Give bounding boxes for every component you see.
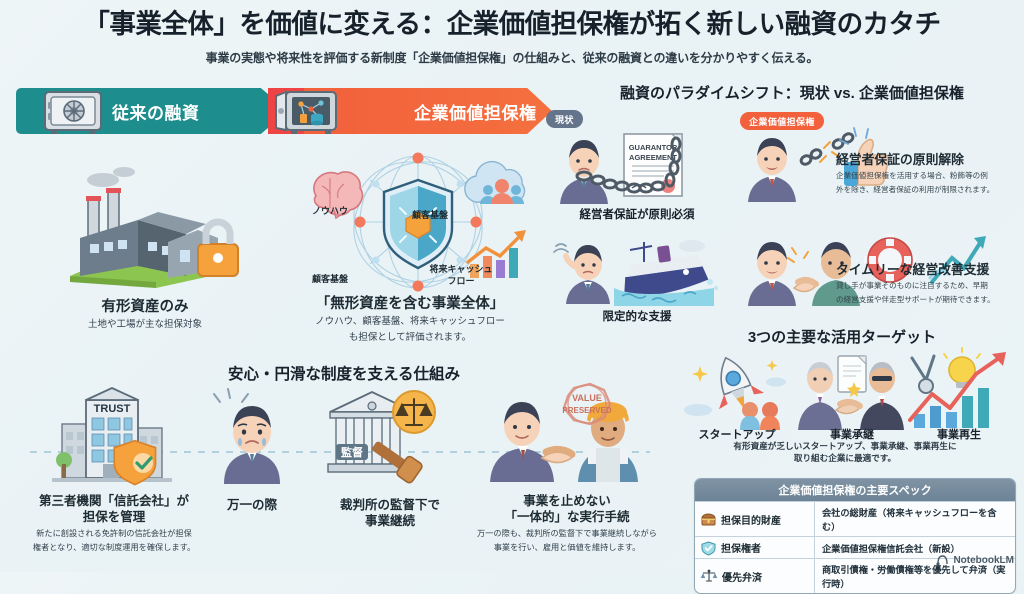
shield-cube-icon (384, 180, 452, 268)
node-label-customer-base-top: 顧客基盤 (400, 208, 460, 221)
chained-guarantor-icon: GUARANTOR AGREEMENT (552, 128, 722, 206)
mech-2-title-line1: 万一の際 (186, 498, 318, 514)
trust-badge-text: TRUST (94, 403, 131, 415)
targets-subtitle-line1: 有形資産が乏しいスタートアップ、事業承継、事業再生に (672, 440, 1018, 452)
handshake-workers-icon: VALUE PRESERVED (484, 382, 646, 486)
new-benefit-1-sub-line2: 外を除き、経営者保証の利用が制限されます。 (836, 185, 1024, 196)
node-label-know-how: ノウハウ (302, 204, 358, 217)
new-benefit-card-2: タイムリーな経営改善支援 貸し手が事業そのものに注目するため、早期 の経営支援や… (836, 262, 1024, 305)
sinking-ship-icon (552, 234, 732, 306)
new-benefit-1-title: 経営者保証の原則解除 (836, 152, 1024, 168)
new-benefit-card-1: 経営者保証の原則解除 企業価値担保権を活用する場合、粉飾等の例 外を除き、経営者… (836, 152, 1024, 195)
intangible-subtitle-line1: ノウハウ、顧客基盤、将来キャッシュフロー (272, 316, 548, 329)
treasure-chest-icon (701, 513, 716, 526)
mech-1-sub-line1: 新たに創設される免許制の信託会社が担保 (6, 528, 222, 539)
mech-4-title-line2: 「一体的」な実行手続 (456, 510, 678, 526)
intangible-title: 「無形資産を含む事業全体」 (272, 295, 548, 313)
mech-4-sub-line2: 事業を行い、雇用と価値を維持します。 (456, 542, 678, 553)
mechanism-col-4: 事業を止めない 「一体的」な実行手続 万一の際も、裁判所の監督下で事業継続しなが… (456, 494, 678, 553)
new-benefit-2-sub-line1: 貸し手が事業そのものに注目するため、早期 (836, 281, 1024, 292)
brand-name: NotebookLM (953, 555, 1014, 566)
turnaround-chart-icon (904, 350, 1014, 430)
spec-key-label: 担保目的財産 (721, 512, 781, 527)
intangible-asset-card: 「無形資産を含む事業全体」 ノウハウ、顧客基盤、将来キャッシュフロー も担保とし… (272, 295, 548, 345)
spec-value-cell: 会社の総財産（将来キャッシュフローを含む） (815, 502, 1015, 536)
infographic-canvas: 「事業全体」を価値に変える：企業価値担保権が拓く新しい融資のカタチ 事業の実態や… (0, 0, 1024, 572)
paradigm-heading: 融資のパラダイムシフト：現状 vs. 企業価値担保権 (560, 82, 1024, 103)
mech-4-title-line1: 事業を止めない (456, 494, 678, 510)
node-label-future-cashflow-line2: フロー (424, 274, 498, 287)
scales-icon (701, 569, 717, 583)
doc-line1: GUARANTOR (629, 143, 678, 152)
comparison-banner: 従来の融資 企業価値担保権 (16, 88, 552, 134)
padlock-icon (198, 222, 238, 276)
intangible-network-icon (300, 152, 540, 292)
node-label-customer-base-bottom: 顧客基盤 (300, 272, 360, 285)
supervision-badge-text: 監督 (341, 445, 363, 459)
safe-closed-icon (42, 90, 104, 134)
new-benefit-2-title: タイムリーな経営改善支援 (836, 262, 1024, 278)
new-benefit-1-sub-line1: 企業価値担保権を活用する場合、粉飾等の例 (836, 171, 1024, 182)
brand-watermark: NotebookLM (936, 554, 1014, 566)
spec-key-cell: 担保目的財産 (695, 502, 815, 536)
factory-icon (58, 158, 248, 288)
notebooklm-icon (936, 554, 949, 566)
page-subtitle: 事業の実態や将来性を評価する新制度「企業価値担保権」の仕組みと、従来の融資との違… (0, 49, 1024, 66)
targets-subtitle: 有形資産が乏しいスタートアップ、事業承継、事業再生に 取り組む企業に最適です。 (672, 440, 1018, 464)
spec-key-cell: 優先弁済 (695, 559, 815, 593)
current-caption-2: 限定的な支援 (552, 308, 722, 324)
shield-check-icon (701, 541, 716, 555)
spec-key-label: 担保権者 (721, 540, 761, 555)
spec-key-label: 優先弁済 (722, 569, 762, 584)
new-benefit-2-sub-line2: の経営支援や伴走型サポートが期待できます。 (836, 295, 1024, 306)
page-title: 「事業全体」を価値に変える：企業価値担保権が拓く新しい融資のカタチ (0, 8, 1024, 41)
mechanism-col-2: 万一の際 (186, 498, 318, 514)
current-caption-1: 経営者保証が原則必須 (552, 206, 722, 222)
spec-table: 企業価値担保権の主要スペック 担保目的財産 会社の総財産（将来キャッシュフローを… (694, 478, 1016, 594)
banner-new-segment: 企業価値担保権 (304, 88, 552, 134)
tangible-subtitle: 土地や工場が主な担保対象 (20, 319, 270, 332)
banner-old-label: 従来の融資 (112, 99, 200, 124)
rocket-icon (684, 352, 792, 430)
banner-new-label: 企業価値担保権 (414, 99, 537, 124)
doc-line2: AGREEMENT (629, 153, 677, 162)
tangible-asset-card: 有形資産のみ 土地や工場が主な担保対象 (20, 298, 270, 332)
spec-key-cell: 担保権者 (695, 537, 815, 558)
stamp-line2: PRESERVED (562, 406, 611, 415)
targets-heading: 3つの主要な活用ターゲット (660, 326, 1024, 347)
mechanism-col-3: 裁判所の監督下で 事業継続 (310, 498, 470, 529)
trust-building-icon: TRUST (48, 386, 176, 486)
people-cloud-icon (465, 162, 525, 204)
mech-4-sub-line1: 万一の際も、裁判所の監督下で事業継続しながら (456, 528, 678, 539)
spec-table-heading: 企業価値担保権の主要スペック (695, 479, 1015, 501)
courthouse-gavel-icon: 監督 (318, 382, 444, 486)
lightbulb-icon (944, 348, 980, 388)
worried-businessman-icon (206, 388, 298, 488)
targets-subtitle-line2: 取り組む企業に最適です。 (672, 452, 1018, 464)
intangible-subtitle-line2: も担保として評価されます。 (272, 332, 548, 345)
mech-1-sub-line2: 権者となり、適切な制度運用を確保します。 (6, 542, 222, 553)
succession-handshake-icon (796, 352, 908, 430)
mech-3-title-line1: 裁判所の監督下で (310, 498, 470, 514)
tangible-title: 有形資産のみ (20, 298, 270, 316)
safe-open-icon (274, 90, 340, 134)
stamp-line1: VALUE (572, 393, 602, 403)
table-row: 担保目的財産 会社の総財産（将来キャッシュフローを含む） (695, 501, 1015, 536)
pill-current: 現状 (546, 110, 583, 128)
mech-3-title-line2: 事業継続 (310, 514, 470, 530)
page-header: 「事業全体」を価値に変える：企業価値担保権が拓く新しい融資のカタチ 事業の実態や… (0, 8, 1024, 66)
mechanism-heading: 安心・円滑な制度を支える仕組み (6, 362, 682, 384)
